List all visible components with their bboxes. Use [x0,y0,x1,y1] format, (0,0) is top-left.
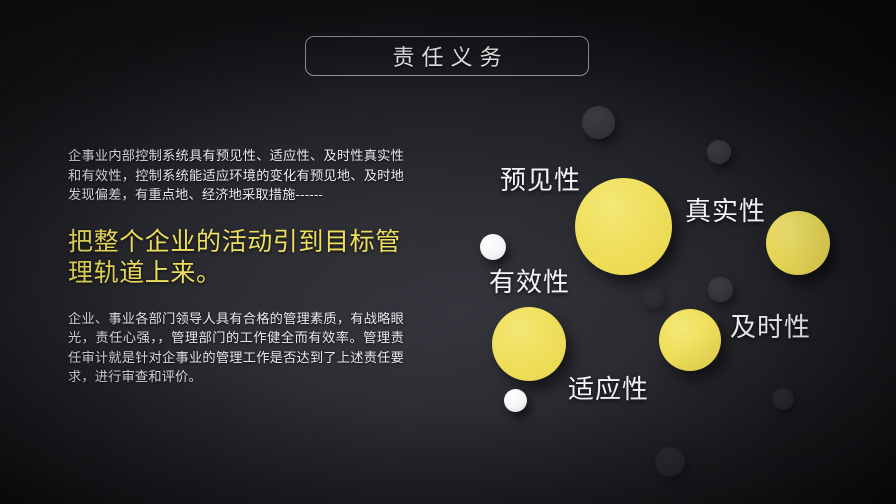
decorative-dot-dark-1 [582,106,615,139]
paragraph-bottom: 企业、事业各部门领导人具有合格的管理素质，有战略眼光，责任心强，，管理部门的工作… [68,309,404,387]
bubble-youxiaoxing-marker [480,234,506,260]
bubble-shiyingxing [492,307,566,381]
headline-text: 把整个企业的活动引到目标管理轨道上来。 [68,227,404,289]
slide-title-frame: 责任义务 [305,36,589,76]
decorative-dot-dark-5 [772,388,794,410]
bubble-label-yuanjianxing: 预见性 [500,160,581,197]
bubble-yuanjianxing [575,178,672,275]
paragraph-top: 企事业内部控制系统具有预见性、适应性、及时性真实性和有效性，控制系统能适应环境的… [68,146,404,205]
body-copy-column: 企事业内部控制系统具有预见性、适应性、及时性真实性和有效性，控制系统能适应环境的… [68,146,404,387]
bubble-zhenshixing [766,211,830,275]
bubble-label-shiyingxing: 适应性 [568,369,649,406]
page-title: 责任义务 [385,40,508,72]
bubble-label-jishixing: 及时性 [730,307,811,344]
bubble-label-youxiaoxing: 有效性 [489,262,570,299]
decorative-dot-dark-2 [707,140,731,164]
bubble-jishixing [659,309,721,371]
slide-canvas: 预见性 真实性 有效性 及时性 适应性 责任义务 企事业内部控制系统具有预见性、… [0,0,896,504]
bubble-small-white-marker [504,389,527,412]
bubble-label-zhenshixing: 真实性 [685,191,766,228]
decorative-dot-dark-6 [655,447,685,477]
decorative-dot-dark-4 [642,287,664,309]
decorative-dot-dark-3 [708,277,733,302]
